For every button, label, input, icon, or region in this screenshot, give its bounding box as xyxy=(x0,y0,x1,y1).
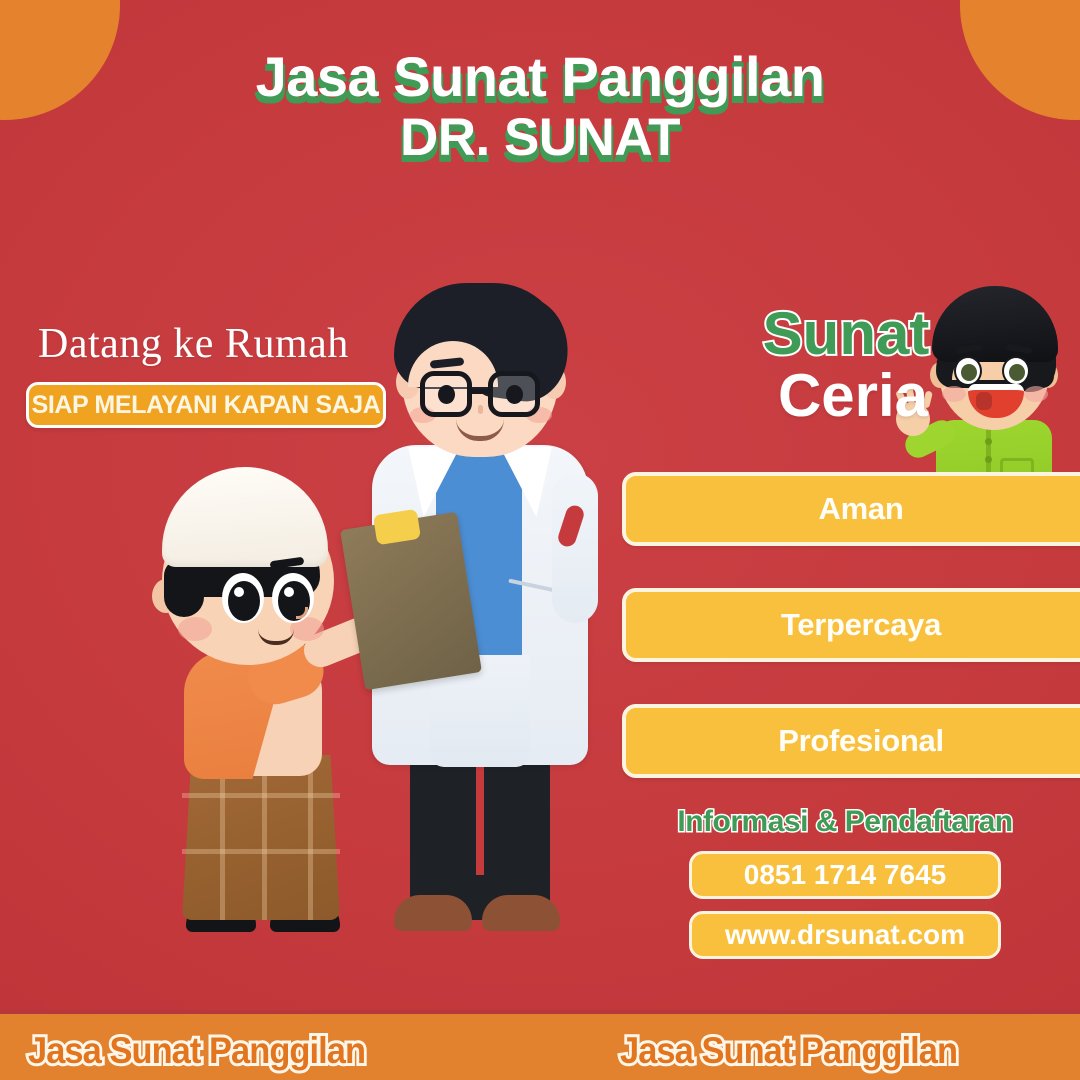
doctor-nose xyxy=(478,405,483,414)
footer-text-left: Jasa Sunat Panggilan xyxy=(28,1030,365,1072)
contact-block: Informasi & Pendaftaran 0851 1714 7645 w… xyxy=(610,805,1080,959)
feature-pill-profesional[interactable]: Profesional xyxy=(622,704,1080,778)
feature-pill-aman[interactable]: Aman xyxy=(622,472,1080,546)
boy-hair-sideburn xyxy=(164,559,204,617)
doctor-glasses-bridge xyxy=(470,389,492,394)
poster-header: Jasa Sunat Panggilan DR. SUNAT xyxy=(0,48,1080,165)
left-text-block: Datang ke Rumah SIAP MELAYANI KAPAN SAJA xyxy=(26,322,406,428)
sarong-stripe-horizontal xyxy=(182,849,340,854)
status-badge-siap-melayani: SIAP MELAYANI KAPAN SAJA xyxy=(26,382,386,428)
boy-sarong xyxy=(182,755,340,920)
sarong-stripe-horizontal xyxy=(182,793,340,798)
page-title-line-1: Jasa Sunat Panggilan xyxy=(0,48,1080,105)
contact-heading: Informasi & Pendaftaran xyxy=(610,805,1080,839)
waving-boy-shirt-button xyxy=(985,456,992,463)
doctor-eye-left xyxy=(438,385,455,404)
brand-block: Sunat Ceria xyxy=(620,305,1080,426)
sarong-stripe-vertical xyxy=(220,755,225,920)
page-title-line-2: DR. SUNAT xyxy=(0,111,1080,165)
boy-eye-glint-left xyxy=(234,587,244,597)
doctor-shoe-right xyxy=(482,895,560,931)
doctor-eye-right xyxy=(506,385,523,404)
brand-word-sunat: Sunat xyxy=(602,305,1080,364)
contact-phone-pill[interactable]: 0851 1714 7645 xyxy=(689,851,1001,899)
contact-website-pill[interactable]: www.drsunat.com xyxy=(689,911,1001,959)
footer-text-right: Jasa Sunat Panggilan xyxy=(620,1030,957,1072)
doctor-arm-right xyxy=(552,473,598,623)
brand-word-ceria: Ceria xyxy=(616,366,1080,426)
sarong-stripe-vertical xyxy=(308,755,313,920)
boy-eye-glint-right xyxy=(284,587,294,597)
sarong-stripe-vertical xyxy=(262,755,267,920)
poster-canvas: Jasa Sunat Panggilan DR. SUNAT xyxy=(0,0,1080,1080)
tagline-datang-ke-rumah: Datang ke Rumah xyxy=(26,322,406,366)
boy-white-kopiah-cap xyxy=(162,467,328,567)
poster-footer: Jasa Sunat Panggilan Jasa Sunat Panggila… xyxy=(0,1010,1080,1080)
feature-list: Aman Terpercaya Profesional xyxy=(622,472,1080,820)
feature-pill-terpercaya[interactable]: Terpercaya xyxy=(622,588,1080,662)
boy-cheek-left xyxy=(178,617,212,641)
waving-boy-shirt-button xyxy=(985,438,992,445)
boy-pupil-left xyxy=(228,581,260,621)
